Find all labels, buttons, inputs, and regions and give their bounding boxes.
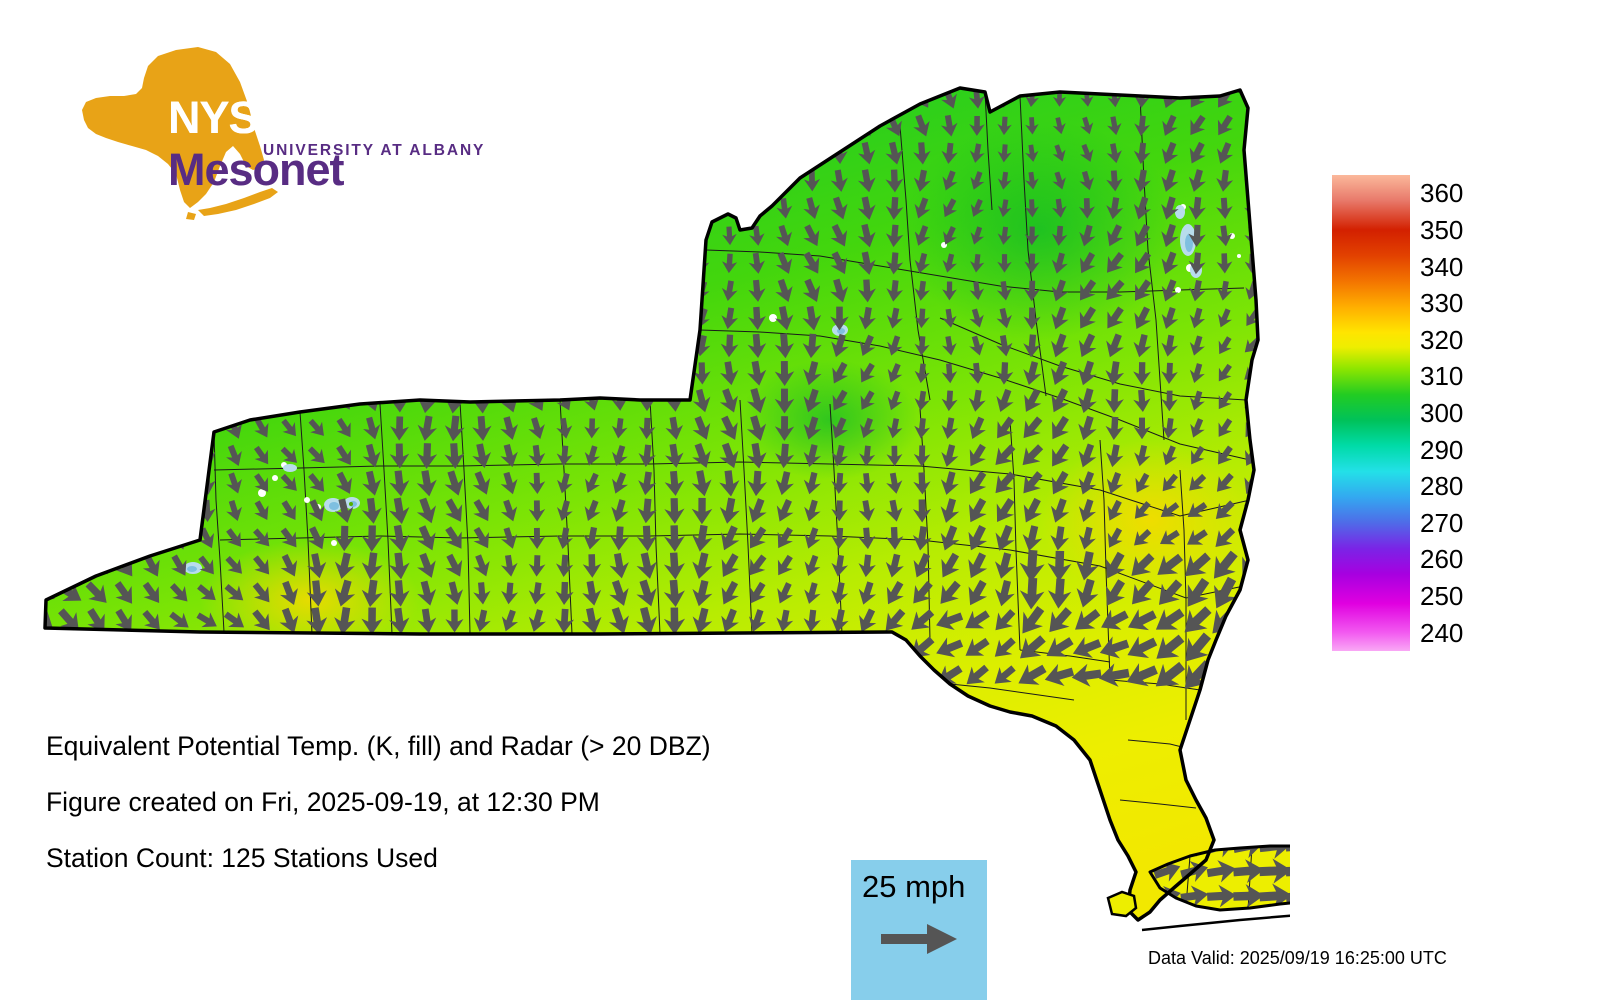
wind-arrow-icon <box>881 922 961 956</box>
colorbar <box>1332 175 1410 651</box>
colorbar-tick-250: 250 <box>1420 583 1463 609</box>
caption-station-count: Station Count: 125 Stations Used <box>46 830 946 886</box>
caption-title: Equivalent Potential Temp. (K, fill) and… <box>46 718 946 774</box>
colorbar-tick-280: 280 <box>1420 473 1463 499</box>
colorbar-gradient <box>1332 175 1410 651</box>
data-valid-timestamp: Data Valid: 2025/09/19 16:25:00 UTC <box>1148 948 1447 969</box>
colorbar-tick-340: 340 <box>1420 254 1463 280</box>
colorbar-tick-360: 360 <box>1420 180 1463 206</box>
colorbar-tick-290: 290 <box>1420 437 1463 463</box>
caption-block: Equivalent Potential Temp. (K, fill) and… <box>46 718 946 886</box>
colorbar-tick-300: 300 <box>1420 400 1463 426</box>
colorbar-tick-310: 310 <box>1420 363 1463 389</box>
wind-legend-label: 25 mph <box>862 869 965 905</box>
colorbar-tick-320: 320 <box>1420 327 1463 353</box>
colorbar-tick-labels: 360350340330320310300290280270260250240 <box>1420 175 1530 651</box>
colorbar-tick-270: 270 <box>1420 510 1463 536</box>
wind-speed-legend: 25 mph <box>851 860 987 1000</box>
colorbar-tick-240: 240 <box>1420 620 1463 646</box>
colorbar-tick-350: 350 <box>1420 217 1463 243</box>
colorbar-tick-260: 260 <box>1420 546 1463 572</box>
caption-created: Figure created on Fri, 2025-09-19, at 12… <box>46 774 946 830</box>
colorbar-tick-330: 330 <box>1420 290 1463 316</box>
